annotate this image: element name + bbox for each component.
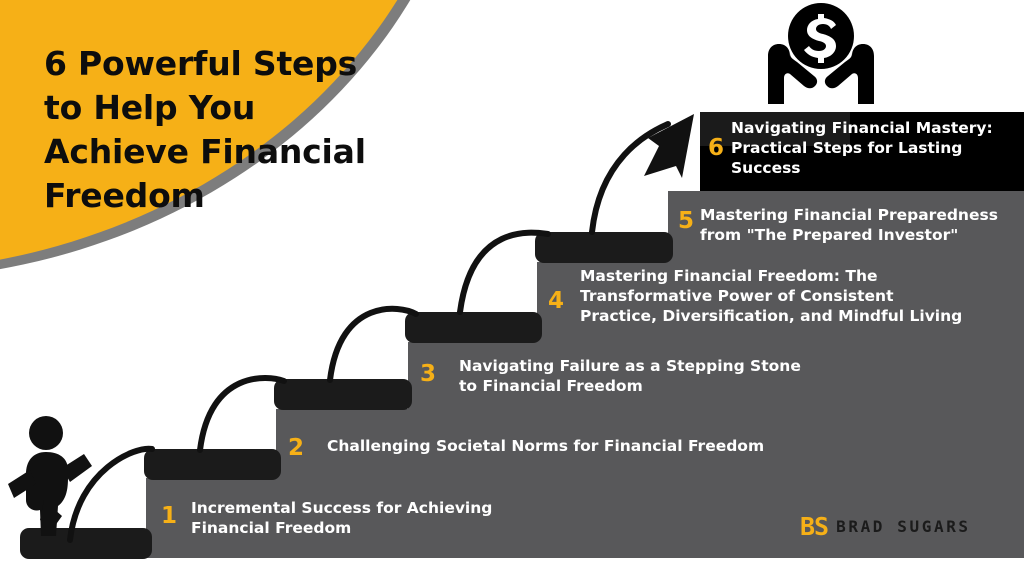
step-text-3: Navigating Failure as a Stepping Stone t… [459, 357, 879, 397]
step-text-1: Incremental Success for Achieving Financ… [191, 499, 591, 539]
step-text-6: Navigating Financial Mastery: Practical … [731, 119, 1017, 178]
arc-3-to-4 [330, 309, 416, 380]
dollar-in-hands-icon [768, 3, 874, 104]
arc-2-to-3 [200, 378, 284, 450]
step-number-5: 5 [678, 210, 694, 233]
step-text-4: Mastering Financial Freedom: The Transfo… [580, 267, 1022, 326]
brand-logo: BS BRAD SUGARS [800, 512, 971, 541]
upward-arrow-icon [644, 114, 694, 178]
step-number-4: 4 [548, 290, 564, 313]
logo-wordmark: BRAD SUGARS [836, 517, 971, 536]
arc-5-to-6 [592, 124, 668, 232]
arc-1-to-2 [70, 449, 152, 540]
step-number-3: 3 [420, 363, 436, 386]
step-landing-1 [20, 528, 152, 559]
step-number-1: 1 [161, 505, 177, 528]
step-text-5: Mastering Financial Preparedness from "T… [700, 206, 1020, 246]
step-landing-3 [274, 379, 412, 410]
infographic-canvas: 6 Powerful Steps to Help You Achieve Fin… [0, 0, 1024, 576]
step-landing-2 [144, 449, 281, 480]
logo-monogram: BS [800, 512, 828, 541]
step-number-6: 6 [708, 137, 724, 160]
step-landing-4 [405, 312, 542, 343]
page-title: 6 Powerful Steps to Help You Achieve Fin… [44, 42, 444, 218]
step-number-2: 2 [288, 437, 304, 460]
step-landing-5 [535, 232, 673, 263]
step-text-2: Challenging Societal Norms for Financial… [327, 437, 827, 457]
walking-person-icon [8, 416, 92, 536]
